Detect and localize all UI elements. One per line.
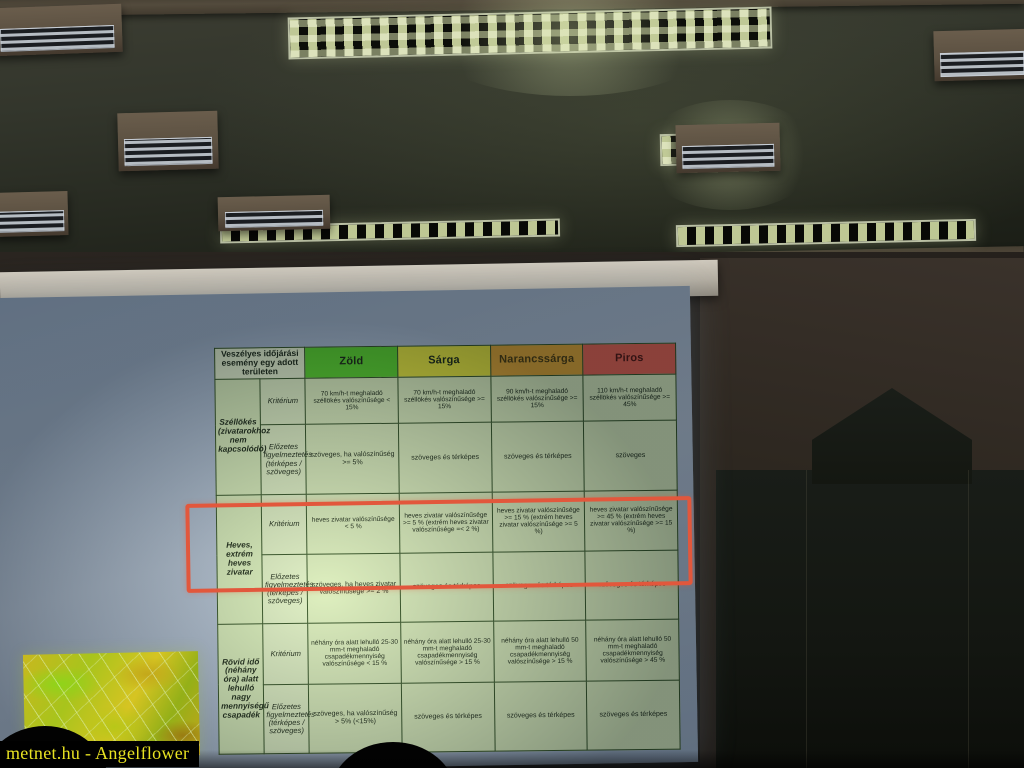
cell-warning-narancssarga: szöveges és térképes — [494, 681, 587, 751]
ventilation-grille — [218, 195, 331, 232]
cell-warning-zold: szöveges, ha valószínűség >= 5% — [306, 424, 399, 494]
wall-panel — [716, 470, 1024, 768]
row-kind-warning: Előzetes figyelmeztetés (térképes / szöv… — [264, 684, 310, 754]
column-header-narancssarga: Narancssárga — [490, 344, 583, 376]
row-kind-criterion: Kritérium — [260, 378, 306, 425]
vent-louvers — [0, 25, 115, 52]
ventilation-grille — [117, 111, 218, 172]
vent-louvers — [940, 51, 1024, 77]
vent-louvers — [0, 211, 64, 234]
cell-criterion-piros: 110 km/h-t meghaladó széllökés valószínű… — [583, 374, 676, 422]
column-header-sarga: Sárga — [398, 345, 491, 377]
panel-seam — [806, 470, 807, 768]
column-header-piros: Piros — [583, 343, 676, 375]
light-louver-grid — [678, 221, 974, 245]
column-header-zold: Zöld — [305, 346, 398, 378]
row-event-label: Rövid idő (néhány óra) alatt lehulló nag… — [218, 624, 265, 754]
table-row: Heves, extrém heves zivatar Kritérium he… — [216, 490, 678, 556]
cell-criterion-zold: néhány óra alatt lehulló 25-30 mm-t megh… — [308, 622, 401, 684]
row-kind-warning: Előzetes figyelmeztetés (térképes / szöv… — [262, 555, 308, 625]
row-event-label: Széllökés (zivatarokhoz nem kapcsolódó) — [215, 378, 261, 495]
cell-warning-sarga: szöveges és térképes — [398, 423, 491, 493]
vent-louvers — [682, 144, 774, 169]
ventilation-grille — [675, 123, 780, 174]
cell-warning-narancssarga: szöveges és térképes — [491, 422, 584, 492]
slide-content: Veszélyes időjárási esemény egy adott te… — [214, 343, 681, 755]
ventilation-grille — [0, 4, 123, 57]
vent-louvers — [225, 210, 324, 229]
table-row: Rövid idő (néhány óra) alatt lehulló nag… — [218, 619, 680, 685]
cell-criterion-zold: heves zivatar valószínűsége < 5 % — [307, 493, 400, 555]
vent-louvers — [124, 136, 213, 166]
cell-criterion-narancssarga: 90 km/h-t meghaladó széllökés valószínűs… — [491, 375, 584, 423]
cell-warning-piros: szöveges — [584, 421, 677, 491]
cell-warning-piros: szöveges és térképes — [585, 550, 678, 620]
panel-seam — [968, 470, 969, 768]
row-event-label: Heves, extrém heves zivatar — [216, 494, 263, 624]
cell-warning-sarga: szöveges és térképes — [401, 682, 494, 752]
cell-criterion-narancssarga: heves zivatar valószínűsége >= 15 % (ext… — [492, 491, 585, 553]
cell-warning-piros: szöveges és térképes — [587, 680, 680, 750]
cell-criterion-sarga: néhány óra alatt lehulló 25-30 mm-t megh… — [401, 621, 494, 683]
cell-criterion-narancssarga: néhány óra alatt lehulló 50 mm-t meghala… — [493, 620, 586, 682]
table-corner-header: Veszélyes időjárási esemény egy adott te… — [215, 347, 306, 379]
watermark: metnet.hu - Angelflower — [0, 741, 199, 767]
table-row: Előzetes figyelmeztetés (térképes / szöv… — [215, 421, 677, 495]
table-row: Előzetes figyelmeztetés (térképes / szöv… — [218, 680, 680, 754]
conference-room-photo: Veszélyes időjárási esemény egy adott te… — [0, 0, 1024, 768]
cell-criterion-piros: néhány óra alatt lehulló 50 mm-t meghala… — [586, 619, 679, 681]
row-kind-criterion: Kritérium — [263, 624, 309, 685]
cell-criterion-sarga: 70 km/h-t meghaladó széllökés valószínűs… — [398, 376, 491, 424]
ventilation-grille — [933, 29, 1024, 81]
cell-criterion-zold: 70 km/h-t meghaladó széllökés valószínűs… — [305, 377, 398, 425]
cell-warning-zold: szöveges, ha heves zivatar valószínűsége… — [307, 553, 400, 623]
ventilation-grille — [0, 191, 69, 237]
cell-warning-sarga: szöveges és térképes — [400, 552, 493, 622]
cell-criterion-sarga: heves zivatar valószínűsége >= 5 % (extr… — [399, 492, 492, 554]
table-row: Előzetes figyelmeztetés (térképes / szöv… — [217, 550, 679, 624]
cell-warning-narancssarga: szöveges és térképes — [493, 551, 586, 621]
row-kind-criterion: Kritérium — [261, 494, 307, 555]
table-row: Széllökés (zivatarokhoz nem kapcsolódó) … — [215, 374, 677, 426]
table-body: Széllökés (zivatarokhoz nem kapcsolódó) … — [215, 374, 680, 755]
cell-criterion-piros: heves zivatar valószínűsége >= 45 % (ext… — [585, 490, 678, 552]
light-louver-grid — [290, 9, 771, 58]
weather-warning-table: Veszélyes időjárási esemény egy adott te… — [214, 343, 681, 755]
